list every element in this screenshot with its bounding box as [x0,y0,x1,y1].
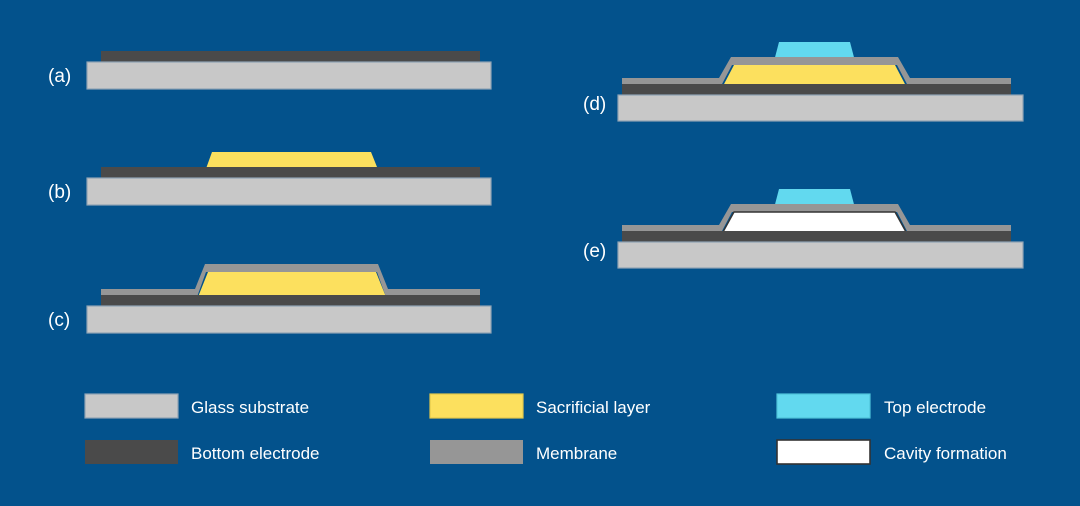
panel-a: (a) [48,51,491,89]
legend-swatch-membrane [430,440,523,464]
panel-d-glass-substrate [618,95,1023,121]
panel-d-sacrificial-layer [723,65,906,86]
process-flow-diagram: (a) (b) (c) (d) [0,0,1080,506]
panel-e-label: (e) [583,241,606,262]
panel-b: (b) [48,152,491,205]
panel-a-label: (a) [48,66,71,87]
legend-label-membrane: Membrane [536,444,617,463]
legend-label-glass-substrate: Glass substrate [191,398,309,417]
panel-c-label: (c) [48,310,70,331]
panel-e: (e) [583,189,1023,268]
panel-c-bottom-electrode [101,295,480,306]
figure-root: (a) (b) (c) (d) [0,0,1080,506]
legend-swatch-sacrificial-layer [430,394,523,418]
legend-label-top-electrode: Top electrode [884,398,986,417]
legend-item-bottom-electrode: Bottom electrode [85,440,320,464]
panel-d-label: (d) [583,94,606,115]
legend-item-top-electrode: Top electrode [777,394,986,418]
panel-e-glass-substrate [618,242,1023,268]
panel-e-bottom-electrode [622,231,1011,242]
panel-a-bottom-electrode [101,51,480,62]
legend-item-cavity-formation: Cavity formation [777,440,1007,464]
panel-b-label: (b) [48,182,71,203]
legend-swatch-cavity-formation [777,440,870,464]
panel-d: (d) [583,42,1023,121]
legend-swatch-glass-substrate [85,394,178,418]
panel-c-glass-substrate [87,306,491,333]
legend-label-sacrificial-layer: Sacrificial layer [536,398,651,417]
panel-d-bottom-electrode [622,84,1011,95]
legend: Glass substrate Sacrificial layer Top el… [85,394,1007,464]
panel-b-glass-substrate [87,178,491,205]
panel-b-bottom-electrode [101,167,480,178]
panel-c-sacrificial-layer [198,272,386,297]
legend-label-bottom-electrode: Bottom electrode [191,444,320,463]
legend-item-sacrificial-layer: Sacrificial layer [430,394,651,418]
panel-c: (c) [48,264,491,333]
legend-swatch-bottom-electrode [85,440,178,464]
panel-e-cavity [723,212,906,232]
legend-item-glass-substrate: Glass substrate [85,394,309,418]
legend-label-cavity-formation: Cavity formation [884,444,1007,463]
legend-item-membrane: Membrane [430,440,617,464]
panel-a-glass-substrate [87,62,491,89]
legend-swatch-top-electrode [777,394,870,418]
